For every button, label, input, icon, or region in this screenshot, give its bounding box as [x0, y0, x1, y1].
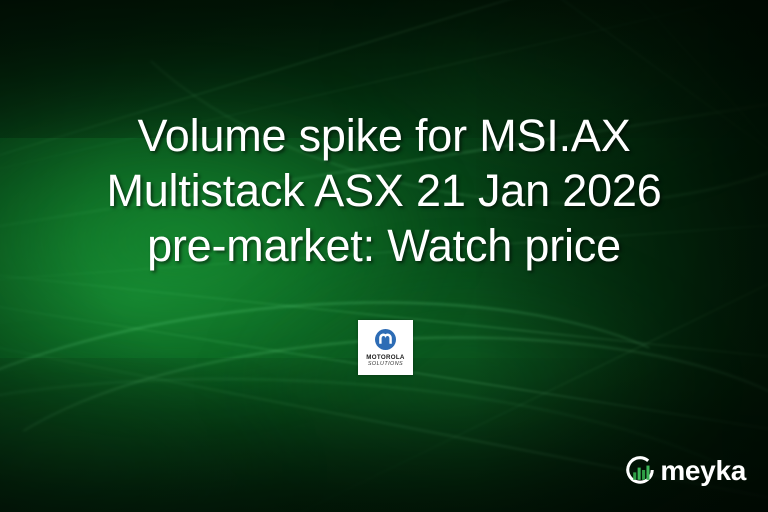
- social-banner: Volume spike for MSI.AX Multistack ASX 2…: [0, 0, 768, 512]
- batwing-m-icon: [375, 329, 396, 350]
- headline-line-2: Multistack ASX 21 Jan 2026: [0, 163, 768, 218]
- brand-logo[interactable]: meyka: [623, 454, 746, 488]
- headline-line-1: Volume spike for MSI.AX: [0, 108, 768, 163]
- brand-name: meyka: [660, 457, 746, 485]
- page-title: Volume spike for MSI.AX Multistack ASX 2…: [0, 108, 768, 273]
- meyka-bar-chart-ring-icon: [623, 454, 657, 488]
- company-logo-subwordmark: SOLUTIONS: [368, 361, 403, 368]
- company-logo-wordmark: MOTOROLA: [366, 354, 404, 361]
- company-logo: MOTOROLA SOLUTIONS: [358, 320, 413, 375]
- headline-line-3: pre-market: Watch price: [0, 218, 768, 273]
